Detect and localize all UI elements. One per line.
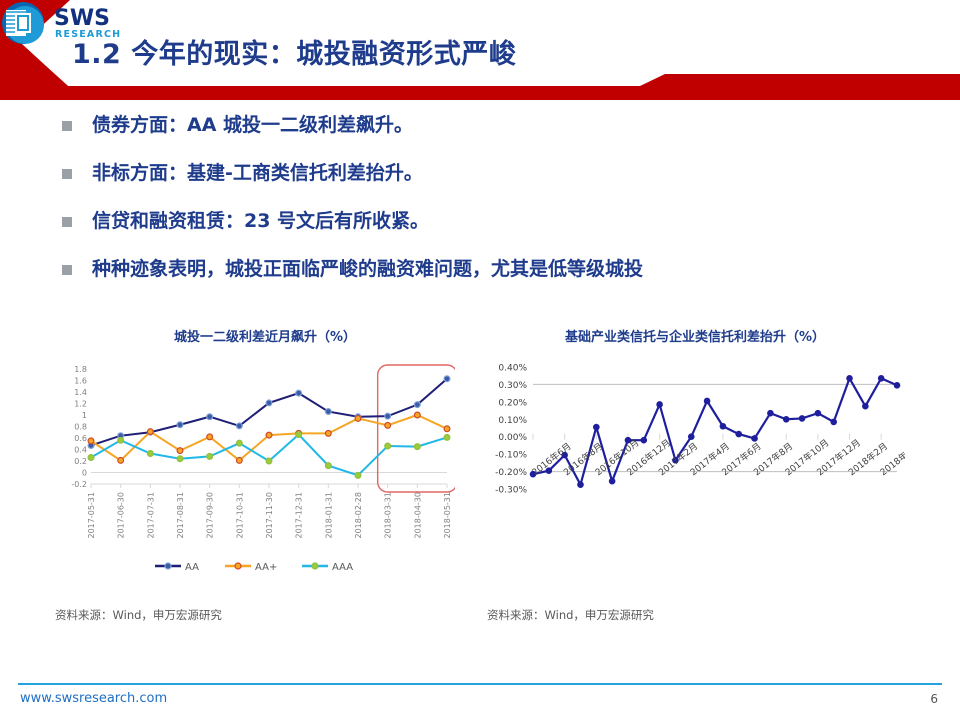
- x-tick-label: 2017-11-30: [265, 492, 274, 539]
- bullet-text: 债券方面：AA 城投一二级利差飙升。: [92, 112, 413, 138]
- chart-right-title: 基础产业类信托与企业类信托利差抬升（%）: [485, 326, 905, 345]
- x-tick-label: 2017-08-31: [176, 492, 185, 539]
- x-tick-label-group: 2018-02-28: [354, 492, 363, 539]
- legend-marker-AA+: [235, 563, 241, 569]
- chart-left-block: 城投一二级利差近月飙升（%） 1.81.61.41.210.80.60.40.2…: [55, 326, 455, 628]
- data-point: [325, 463, 331, 469]
- y-tick-label: -0.30%: [495, 486, 527, 496]
- y-tick-label: 0.30%: [498, 381, 527, 391]
- bullet-text: 非标方面：基建-工商类信托利差抬升。: [92, 160, 423, 186]
- x-tick-label-group: 2017-09-30: [206, 492, 215, 539]
- bullet-item-1: 债券方面：AA 城投一二级利差飙升。: [62, 112, 902, 138]
- x-tick-label: 2018-03-31: [384, 492, 393, 539]
- y-tick-label: 0.00%: [498, 433, 527, 443]
- data-point: [385, 422, 391, 428]
- data-point: [177, 456, 183, 462]
- data-point: [207, 434, 213, 440]
- y-tick-label: 0.8: [74, 423, 87, 432]
- chart-right-canvas: 0.40%0.30%0.20%0.10%0.00%-0.10%-0.20%-0.…: [485, 359, 905, 608]
- x-tick-label-group: 2017-08-31: [176, 492, 185, 539]
- data-point: [894, 382, 901, 389]
- logo-wordmark: SWS: [54, 6, 110, 31]
- footer-divider: [18, 683, 942, 685]
- y-tick-label: 1.8: [74, 365, 87, 374]
- data-point: [266, 458, 272, 464]
- bullet-square-icon: [62, 265, 72, 275]
- chart-right-block: 基础产业类信托与企业类信托利差抬升（%） 0.40%0.30%0.20%0.10…: [485, 326, 905, 608]
- data-point: [177, 448, 183, 454]
- data-point: [207, 414, 213, 420]
- y-tick-label: 0.40%: [498, 364, 527, 374]
- data-point: [751, 435, 758, 442]
- y-tick-label: 0.20%: [498, 398, 527, 408]
- data-point: [735, 431, 742, 438]
- data-point: [846, 375, 853, 382]
- y-tick-label: 0.4: [74, 446, 87, 455]
- chart-left-source: 资料来源：Wind，申万宏源研究: [55, 607, 222, 623]
- data-point: [385, 413, 391, 419]
- y-tick-label: 0.6: [74, 434, 87, 443]
- x-tick-label-group: 2018-04-30: [413, 492, 422, 539]
- data-point: [296, 432, 302, 438]
- x-tick-label: 2018-02-28: [354, 492, 363, 539]
- x-tick-label: 2017-07-31: [146, 492, 155, 539]
- y-tick-label: -0.2: [71, 480, 87, 489]
- data-point: [207, 454, 213, 460]
- y-tick-label: 1.4: [74, 388, 87, 397]
- y-tick-label: -0.10%: [495, 451, 527, 461]
- x-tick-label-group: 2018-01-31: [324, 492, 333, 539]
- legend-label-AA: AA: [185, 562, 199, 573]
- x-tick-label-group: 2017-05-31: [87, 492, 96, 539]
- data-point: [878, 375, 885, 382]
- y-tick-label: 1.6: [74, 377, 87, 386]
- data-point: [88, 455, 94, 461]
- footer-url[interactable]: www.swsresearch.com: [20, 691, 167, 706]
- bullet-text: 种种迹象表明，城投正面临严峻的融资难问题，尤其是低等级城投: [92, 256, 643, 282]
- chart-left-title: 城投一二级利差近月飙升（%）: [75, 326, 455, 345]
- data-point: [862, 403, 869, 410]
- page-number: 6: [930, 692, 938, 706]
- page-title: 1.2 今年的现实：城投融资形式严峻: [72, 32, 516, 71]
- data-point: [118, 458, 124, 464]
- bullet-item-4: 种种迹象表明，城投正面临严峻的融资难问题，尤其是低等级城投: [62, 256, 902, 282]
- data-point: [720, 423, 727, 430]
- data-point: [296, 390, 302, 396]
- sws-logo: SWS RESEARCH: [0, 0, 124, 46]
- legend-label-AAA: AAA: [332, 562, 353, 573]
- data-point: [147, 429, 153, 435]
- logo-subtext: RESEARCH: [55, 29, 121, 40]
- data-point: [444, 376, 450, 382]
- data-point: [830, 419, 837, 426]
- x-tick-label-group: 2017-06-30: [117, 492, 126, 539]
- data-point: [236, 423, 242, 429]
- y-tick-label: 1: [82, 411, 87, 420]
- data-point: [688, 433, 695, 440]
- data-point: [704, 398, 711, 405]
- x-tick-label-group: 2018-05-31: [443, 492, 452, 539]
- data-point: [640, 437, 647, 444]
- legend-marker-AAA: [312, 563, 318, 569]
- chart-legend: AAAA+AAA: [155, 562, 353, 573]
- bullet-item-2: 非标方面：基建-工商类信托利差抬升。: [62, 160, 902, 186]
- legend-marker-AA: [165, 563, 171, 569]
- x-tick-label: 2017-05-31: [87, 492, 96, 539]
- series-line-AAA: [91, 435, 447, 476]
- data-point: [767, 410, 774, 417]
- data-point: [593, 424, 600, 431]
- x-tick-label-group: 2017-12-31: [295, 492, 304, 539]
- data-point: [414, 444, 420, 450]
- data-point: [266, 432, 272, 438]
- data-point: [325, 409, 331, 415]
- data-point: [118, 437, 124, 443]
- x-tick-label: 2018-04-30: [413, 492, 422, 539]
- data-point: [266, 400, 272, 406]
- bullet-square-icon: [62, 169, 72, 179]
- bullet-text: 信贷和融资租赁：23 号文后有所收紧。: [92, 208, 429, 234]
- bullet-square-icon: [62, 217, 72, 227]
- y-tick-label: 0: [82, 469, 87, 478]
- data-point: [355, 472, 361, 478]
- bullet-item-3: 信贷和融资租赁：23 号文后有所收紧。: [62, 208, 902, 234]
- data-point: [236, 440, 242, 446]
- data-point: [444, 426, 450, 432]
- data-point: [444, 435, 450, 441]
- logo-circle-icon: [2, 2, 44, 44]
- x-tick-label: 2017-12-31: [295, 492, 304, 539]
- y-tick-label: 1.2: [74, 400, 87, 409]
- data-point: [88, 438, 94, 444]
- chart-left-canvas: 1.81.61.41.210.80.60.40.20-0.22017-05-31…: [55, 359, 455, 628]
- x-tick-label-group: 2018-03-31: [384, 492, 393, 539]
- x-tick-label-group: 2017-11-30: [265, 492, 274, 539]
- chart-right-source: 资料来源：Wind，申万宏源研究: [487, 607, 654, 623]
- slide-header: 1.2 今年的现实：城投融资形式严峻 SWS RESEARCH: [0, 0, 960, 100]
- y-tick-label: 0.2: [74, 457, 87, 466]
- data-point: [414, 412, 420, 418]
- data-point: [177, 422, 183, 428]
- data-point: [799, 415, 806, 422]
- data-point: [815, 410, 822, 417]
- x-tick-label: 2017-09-30: [206, 492, 215, 539]
- data-point: [147, 451, 153, 457]
- x-tick-label: 2018-05-31: [443, 492, 452, 539]
- data-point: [783, 416, 790, 423]
- bullet-list: 债券方面：AA 城投一二级利差飙升。 非标方面：基建-工商类信托利差抬升。 信贷…: [62, 112, 902, 304]
- y-tick-label: 0.10%: [498, 416, 527, 426]
- legend-label-AA+: AA+: [255, 562, 277, 573]
- data-point: [414, 402, 420, 408]
- x-tick-label-group: 2017-07-31: [146, 492, 155, 539]
- data-point: [609, 478, 616, 485]
- x-tick-label-group: 2017-10-31: [235, 492, 244, 539]
- y-tick-label: -0.20%: [495, 468, 527, 478]
- x-tick-label: 2017-06-30: [117, 492, 126, 539]
- x-tick-label: 2018-01-31: [324, 492, 333, 539]
- series-line: [533, 378, 897, 484]
- data-point: [355, 416, 361, 422]
- data-point: [656, 401, 663, 408]
- data-point: [385, 443, 391, 449]
- data-point: [325, 431, 331, 437]
- data-point: [577, 481, 584, 488]
- x-tick-label: 2017-10-31: [235, 492, 244, 539]
- bullet-square-icon: [62, 121, 72, 131]
- data-point: [236, 458, 242, 464]
